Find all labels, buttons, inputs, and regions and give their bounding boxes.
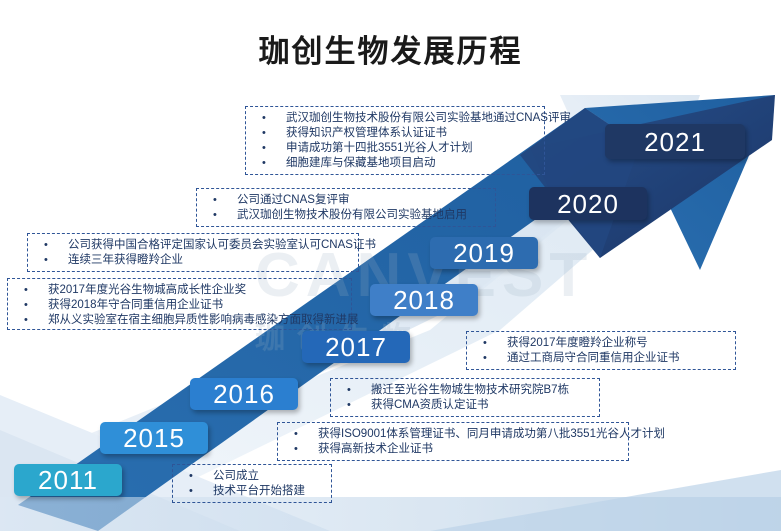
year-badge-2021[interactable]: 2021 — [605, 124, 745, 159]
list-item: 细胞建库与保藏基地项目启动 — [252, 156, 536, 171]
list-item: 获得ISO9001体系管理证书、同月申请成功第八批3551光谷人才计划 — [284, 427, 620, 442]
list-item: 获得CMA资质认定证书 — [337, 398, 591, 413]
year-badge-2015[interactable]: 2015 — [100, 422, 208, 454]
list-item: 武汉珈创生物技术股份有限公司实验基地通过CNAS评审 — [252, 111, 536, 126]
list-item: 搬迁至光谷生物城生物技术研究院B7栋 — [337, 383, 591, 398]
content-box-2019: 公司获得中国合格评定国家认可委员会实验室认可CNAS证书 连续三年获得瞪羚企业 — [27, 233, 359, 272]
list-item: 连续三年获得瞪羚企业 — [34, 253, 350, 268]
list-item: 获得知识产权管理体系认证证书 — [252, 126, 536, 141]
list-item: 公司成立 — [179, 469, 323, 484]
list-item: 获得高新技术企业证书 — [284, 442, 620, 457]
year-badge-2018[interactable]: 2018 — [370, 284, 478, 316]
list-item: 通过工商局守合同重信用企业证书 — [473, 351, 727, 366]
content-box-2017: 获得2017年度瞪羚企业称号 通过工商局守合同重信用企业证书 — [466, 331, 736, 370]
infographic-canvas: CANVEST 珈创生物 珈创生物发展历程 武汉珈创生物技术股份有限公司实验基地… — [0, 0, 781, 531]
content-box-2011: 公司成立 技术平台开始搭建 — [172, 464, 332, 503]
list-item: 公司通过CNAS复评审 — [203, 193, 487, 208]
list-item: 获2017年度光谷生物城高成长性企业奖 — [14, 283, 343, 298]
list-item: 获得2017年度瞪羚企业称号 — [473, 336, 727, 351]
list-item: 获得2018年守合同重信用企业证书 — [14, 298, 343, 313]
list-item: 技术平台开始搭建 — [179, 484, 323, 499]
list-item: 公司获得中国合格评定国家认可委员会实验室认可CNAS证书 — [34, 238, 350, 253]
year-badge-2020[interactable]: 2020 — [529, 187, 647, 220]
content-box-2018: 获2017年度光谷生物城高成长性企业奖 获得2018年守合同重信用企业证书 郑从… — [7, 278, 352, 330]
year-badge-2017[interactable]: 2017 — [302, 331, 410, 363]
page-title: 珈创生物发展历程 — [0, 26, 781, 71]
year-badge-2016[interactable]: 2016 — [190, 378, 298, 410]
content-box-2020: 公司通过CNAS复评审 武汉珈创生物技术股份有限公司实验基地启用 — [196, 188, 496, 227]
content-box-2015: 获得ISO9001体系管理证书、同月申请成功第八批3551光谷人才计划 获得高新… — [277, 422, 629, 461]
content-box-2021: 武汉珈创生物技术股份有限公司实验基地通过CNAS评审 获得知识产权管理体系认证证… — [245, 106, 545, 175]
content-box-2016: 搬迁至光谷生物城生物技术研究院B7栋 获得CMA资质认定证书 — [330, 378, 600, 417]
list-item: 郑从义实验室在宿主细胞异质性影响病毒感染方面取得新进展 — [14, 313, 343, 328]
year-badge-2019[interactable]: 2019 — [430, 237, 538, 269]
year-badge-2011[interactable]: 2011 — [14, 464, 122, 496]
list-item: 申请成功第十四批3551光谷人才计划 — [252, 141, 536, 156]
list-item: 武汉珈创生物技术股份有限公司实验基地启用 — [203, 208, 487, 223]
